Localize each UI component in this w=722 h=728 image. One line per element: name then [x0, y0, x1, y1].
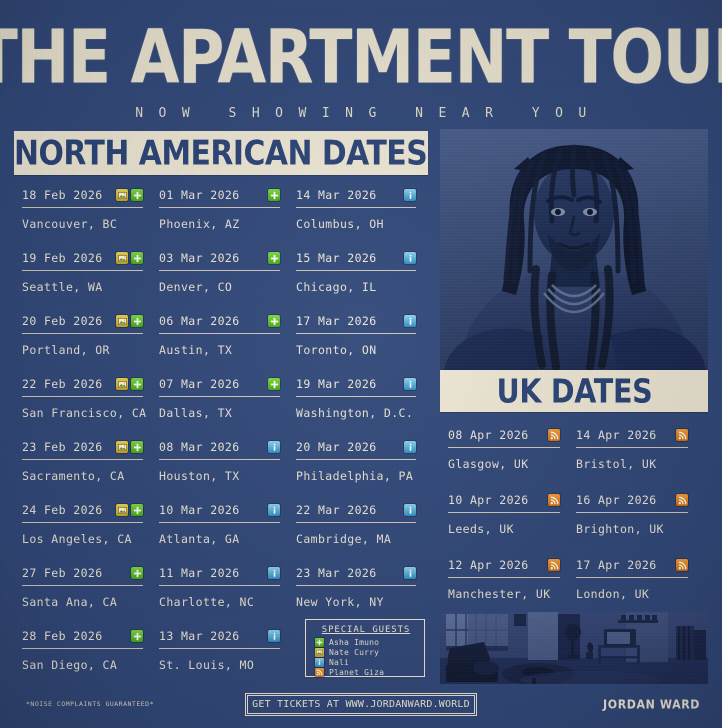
tour-date-text: 01 Mar 2026 [159, 188, 240, 202]
tour-city-text: Atlanta, GA [159, 532, 280, 546]
tour-date-icon-group [548, 429, 560, 441]
tour-date-text: 08 Apr 2026 [448, 428, 529, 442]
special-guest-name: Nate Curry [329, 648, 379, 657]
plus-badge-icon[interactable] [131, 504, 143, 516]
tour-city-text: Manchester, UK [448, 587, 560, 601]
tour-date-row: 20 Mar 2026 [296, 440, 416, 460]
tour-date-row: 01 Mar 2026 [159, 188, 280, 208]
plus-badge-icon[interactable] [131, 252, 143, 264]
special-guest-name: Nali [329, 658, 349, 667]
image-badge-icon[interactable] [116, 315, 128, 327]
tour-date-row: 12 Apr 2026 [448, 558, 560, 578]
tour-date-text: 07 Mar 2026 [159, 377, 240, 391]
tour-date-row: 03 Mar 2026 [159, 251, 280, 271]
tour-date-icon-group [116, 315, 143, 327]
tour-date-icon-group [404, 252, 416, 264]
tour-date-icon-group [676, 429, 688, 441]
tour-date-text: 14 Apr 2026 [576, 428, 657, 442]
tour-city-text: Portland, OR [22, 343, 143, 357]
tour-date-cell[interactable]: 23 Mar 2026New York, NY [296, 566, 432, 609]
tour-date-text: 22 Mar 2026 [296, 503, 377, 517]
tour-city-text: Austin, TX [159, 343, 280, 357]
noise-complaints-note: *NOISE COMPLAINTS GUARANTEED* [26, 700, 154, 708]
tour-date-row: 06 Mar 2026 [159, 314, 280, 334]
artist-name: JORDAN WARD [603, 697, 700, 712]
tour-date-row: 10 Mar 2026 [159, 503, 280, 523]
rss-badge-icon[interactable] [315, 668, 324, 677]
tour-date-row: 20 Feb 2026 [22, 314, 143, 334]
tour-city-text: Phoenix, AZ [159, 217, 280, 231]
plus-badge-icon[interactable] [131, 567, 143, 579]
tour-city-text: Toronto, ON [296, 343, 416, 357]
tour-date-icon-group [548, 494, 560, 506]
tour-date-text: 20 Mar 2026 [296, 440, 377, 454]
tour-date-cell[interactable]: 08 Mar 2026Houston, TX [159, 440, 296, 483]
tour-date-icon-group [268, 630, 280, 642]
tour-date-text: 19 Feb 2026 [22, 251, 103, 265]
tour-date-cell[interactable]: 22 Mar 2026Cambridge, MA [296, 503, 432, 546]
tour-city-text: Glasgow, UK [448, 457, 560, 471]
tour-date-icon-group [404, 567, 416, 579]
tour-date-text: 23 Mar 2026 [296, 566, 377, 580]
tour-date-text: 14 Mar 2026 [296, 188, 377, 202]
tour-date-icon-group [404, 189, 416, 201]
tour-city-text: Washington, D.C. [296, 406, 416, 420]
tour-date-row: 08 Mar 2026 [159, 440, 280, 460]
tour-date-cell[interactable]: 13 Mar 2026St. Louis, MO [159, 629, 296, 672]
info-badge-icon[interactable] [404, 504, 416, 516]
tour-date-icon-group [404, 315, 416, 327]
special-guests-title: SPECIAL GUESTS [315, 625, 417, 635]
rss-badge-icon[interactable] [676, 494, 688, 506]
special-guests-box: SPECIAL GUESTS Asha ImunoNate CurryNaliP… [305, 619, 425, 677]
tour-city-text: San Francisco, CA [22, 406, 143, 420]
north-american-dates-label: NORTH AMERICAN DATES [14, 133, 427, 173]
tour-date-row: 08 Apr 2026 [448, 428, 560, 448]
tour-date-icon-group [268, 567, 280, 579]
tour-date-text: 12 Apr 2026 [448, 558, 529, 572]
image-badge-icon[interactable] [315, 648, 324, 657]
tour-date-row: 07 Mar 2026 [159, 377, 280, 397]
info-badge-icon[interactable] [268, 567, 280, 579]
info-badge-icon[interactable] [315, 658, 324, 667]
tour-date-icon-group [404, 504, 416, 516]
tour-date-row: 17 Mar 2026 [296, 314, 416, 334]
tour-date-text: 18 Feb 2026 [22, 188, 103, 202]
portrait-illustration [440, 129, 708, 371]
tour-date-icon-group [404, 441, 416, 453]
rss-badge-icon[interactable] [548, 559, 560, 571]
tour-city-text: Columbus, OH [296, 217, 416, 231]
tour-city-text: Leeds, UK [448, 522, 560, 536]
tour-date-cell[interactable]: 14 Apr 2026Bristol, UK [576, 428, 704, 471]
get-tickets-button[interactable]: GET TICKETS AT WWW.JORDANWARD.WORLD [247, 695, 475, 714]
uk-dates-banner: UK DATES [440, 370, 708, 412]
tour-city-text: Philadelphia, PA [296, 469, 416, 483]
tour-date-cell[interactable]: 11 Mar 2026Charlotte, NC [159, 566, 296, 609]
page-title: THE APARTMENT TOUR [0, 18, 722, 96]
room-illustration [440, 612, 708, 684]
tour-city-text: St. Louis, MO [159, 658, 280, 672]
tour-city-text: Seattle, WA [22, 280, 143, 294]
tour-date-cell[interactable]: 20 Mar 2026Philadelphia, PA [296, 440, 432, 483]
special-guest-name: Asha Imuno [329, 638, 379, 647]
tour-city-text: Bristol, UK [576, 457, 688, 471]
info-badge-icon[interactable] [404, 378, 416, 390]
tour-date-text: 06 Mar 2026 [159, 314, 240, 328]
tour-date-row: 18 Feb 2026 [22, 188, 143, 208]
tour-city-text: Vancouver, BC [22, 217, 143, 231]
tour-date-row: 28 Feb 2026 [22, 629, 143, 649]
rss-badge-icon[interactable] [548, 429, 560, 441]
tour-date-text: 28 Feb 2026 [22, 629, 103, 643]
tour-date-cell[interactable]: 23 Feb 2026Sacramento, CA [22, 440, 159, 483]
tour-city-text: Denver, CO [159, 280, 280, 294]
tour-date-text: 17 Mar 2026 [296, 314, 377, 328]
tour-date-icon-group [116, 189, 143, 201]
tour-date-icon-group [404, 378, 416, 390]
tour-date-cell[interactable]: 14 Mar 2026Columbus, OH [296, 188, 432, 231]
special-guests-list: Asha ImunoNate CurryNaliPlanet Giza [315, 638, 417, 677]
tour-date-cell[interactable]: 08 Apr 2026Glasgow, UK [448, 428, 576, 471]
tour-date-row: 16 Apr 2026 [576, 493, 688, 513]
tour-date-text: 20 Feb 2026 [22, 314, 103, 328]
tour-date-icon-group [268, 315, 280, 327]
tour-date-row: 22 Mar 2026 [296, 503, 416, 523]
uk-dates-grid: 08 Apr 2026Glasgow, UK14 Apr 2026Bristol… [448, 428, 704, 623]
artist-portrait-photo [440, 129, 708, 371]
tour-date-text: 13 Mar 2026 [159, 629, 240, 643]
tour-date-text: 11 Mar 2026 [159, 566, 240, 580]
plus-badge-icon[interactable] [131, 630, 143, 642]
tour-date-row: 22 Feb 2026 [22, 377, 143, 397]
tour-date-text: 27 Feb 2026 [22, 566, 103, 580]
north-american-dates-banner: NORTH AMERICAN DATES [14, 131, 428, 175]
rss-badge-icon[interactable] [548, 494, 560, 506]
tour-date-icon-group [268, 189, 280, 201]
tour-date-text: 10 Mar 2026 [159, 503, 240, 517]
tour-date-cell[interactable]: 20 Feb 2026Portland, OR [22, 314, 159, 357]
image-badge-icon[interactable] [116, 252, 128, 264]
plus-badge-icon[interactable] [131, 378, 143, 390]
tour-date-icon-group [131, 630, 143, 642]
tour-date-row: 24 Feb 2026 [22, 503, 143, 523]
info-badge-icon[interactable] [404, 441, 416, 453]
tour-date-text: 22 Feb 2026 [22, 377, 103, 391]
rss-badge-icon[interactable] [676, 429, 688, 441]
tour-city-text: Brighton, UK [576, 522, 688, 536]
tour-city-text: London, UK [576, 587, 688, 601]
info-badge-icon[interactable] [268, 504, 280, 516]
tour-date-cell[interactable]: 15 Mar 2026Chicago, IL [296, 251, 432, 294]
tour-date-row: 14 Apr 2026 [576, 428, 688, 448]
rss-badge-icon[interactable] [676, 559, 688, 571]
tour-date-cell[interactable]: 10 Apr 2026Leeds, UK [448, 493, 576, 536]
image-badge-icon[interactable] [116, 441, 128, 453]
tour-date-cell[interactable]: 10 Mar 2026Atlanta, GA [159, 503, 296, 546]
tour-date-cell[interactable]: 06 Mar 2026Austin, TX [159, 314, 296, 357]
special-guest-name: Planet Giza [329, 668, 384, 677]
tour-date-icon-group [268, 504, 280, 516]
tour-city-text: Houston, TX [159, 469, 280, 483]
tour-city-text: Santa Ana, CA [22, 595, 143, 609]
uk-dates-label: UK DATES [496, 372, 652, 411]
plus-badge-icon[interactable] [268, 378, 280, 390]
tour-date-row: 19 Mar 2026 [296, 377, 416, 397]
north-american-dates-grid: 18 Feb 2026Vancouver, BC01 Mar 2026Phoen… [22, 188, 432, 692]
tour-date-cell[interactable]: 18 Feb 2026Vancouver, BC [22, 188, 159, 231]
apartment-room-photo [440, 612, 708, 684]
tour-city-text: Chicago, IL [296, 280, 416, 294]
tour-city-text: New York, NY [296, 595, 416, 609]
info-badge-icon[interactable] [404, 315, 416, 327]
tour-city-text: Cambridge, MA [296, 532, 416, 546]
special-guest-row: Nate Curry [315, 648, 417, 657]
plus-badge-icon[interactable] [268, 252, 280, 264]
tour-date-row: 13 Mar 2026 [159, 629, 280, 649]
tour-date-text: 19 Mar 2026 [296, 377, 377, 391]
info-badge-icon[interactable] [404, 567, 416, 579]
special-guest-row: Nali [315, 658, 417, 667]
plus-badge-icon[interactable] [268, 189, 280, 201]
tour-date-icon-group [116, 441, 143, 453]
special-guest-row: Planet Giza [315, 668, 417, 677]
tour-date-text: 08 Mar 2026 [159, 440, 240, 454]
tour-city-text: Sacramento, CA [22, 469, 143, 483]
tour-date-icon-group [116, 252, 143, 264]
tour-city-text: San Diego, CA [22, 658, 143, 672]
tour-city-text: Dallas, TX [159, 406, 280, 420]
tour-date-icon-group [548, 559, 560, 571]
tour-date-cell[interactable]: 17 Mar 2026Toronto, ON [296, 314, 432, 357]
image-badge-icon[interactable] [116, 504, 128, 516]
tour-date-icon-group [676, 494, 688, 506]
tour-date-icon-group [676, 559, 688, 571]
plus-badge-icon[interactable] [268, 315, 280, 327]
tour-subtitle: NOW SHOWING NEAR YOU [0, 106, 722, 121]
tour-date-icon-group [268, 252, 280, 264]
plus-badge-icon[interactable] [131, 315, 143, 327]
tour-date-cell[interactable]: 12 Apr 2026Manchester, UK [448, 558, 576, 601]
tour-date-row: 14 Mar 2026 [296, 188, 416, 208]
tour-date-cell[interactable]: 07 Mar 2026Dallas, TX [159, 377, 296, 420]
tour-date-row: 15 Mar 2026 [296, 251, 416, 271]
masthead: THE APARTMENT TOUR NOW SHOWING NEAR YOU [0, 18, 722, 121]
tour-date-cell[interactable]: 19 Mar 2026Washington, D.C. [296, 377, 432, 420]
tour-date-cell[interactable]: 17 Apr 2026London, UK [576, 558, 704, 601]
tour-date-text: 16 Apr 2026 [576, 493, 657, 507]
tour-date-row: 19 Feb 2026 [22, 251, 143, 271]
tour-date-cell[interactable]: 19 Feb 2026Seattle, WA [22, 251, 159, 294]
image-badge-icon[interactable] [116, 378, 128, 390]
info-badge-icon[interactable] [268, 630, 280, 642]
info-badge-icon[interactable] [268, 441, 280, 453]
get-tickets-label: GET TICKETS AT WWW.JORDANWARD.WORLD [252, 699, 470, 710]
tour-date-text: 17 Apr 2026 [576, 558, 657, 572]
tour-date-icon-group [116, 504, 143, 516]
tour-date-row: 23 Mar 2026 [296, 566, 416, 586]
image-badge-icon[interactable] [116, 189, 128, 201]
tour-date-row: 17 Apr 2026 [576, 558, 688, 578]
tour-date-icon-group [116, 378, 143, 390]
info-badge-icon[interactable] [404, 252, 416, 264]
tour-date-cell[interactable]: 28 Feb 2026San Diego, CA [22, 629, 159, 672]
tour-date-cell[interactable]: 24 Feb 2026Los Angeles, CA [22, 503, 159, 546]
tour-date-row: 10 Apr 2026 [448, 493, 560, 513]
tour-date-cell[interactable]: 01 Mar 2026Phoenix, AZ [159, 188, 296, 231]
tour-date-row: 27 Feb 2026 [22, 566, 143, 586]
tour-date-cell[interactable]: 03 Mar 2026Denver, CO [159, 251, 296, 294]
tour-city-text: Los Angeles, CA [22, 532, 143, 546]
tour-date-text: 24 Feb 2026 [22, 503, 103, 517]
tour-date-text: 23 Feb 2026 [22, 440, 103, 454]
tour-date-row: 11 Mar 2026 [159, 566, 280, 586]
plus-badge-icon[interactable] [131, 189, 143, 201]
tour-date-text: 15 Mar 2026 [296, 251, 377, 265]
tour-date-cell[interactable]: 27 Feb 2026Santa Ana, CA [22, 566, 159, 609]
info-badge-icon[interactable] [404, 189, 416, 201]
tour-date-text: 10 Apr 2026 [448, 493, 529, 507]
tour-date-row: 23 Feb 2026 [22, 440, 143, 460]
tour-date-icon-group [268, 378, 280, 390]
tour-date-cell[interactable]: 16 Apr 2026Brighton, UK [576, 493, 704, 536]
tour-date-icon-group [268, 441, 280, 453]
plus-badge-icon[interactable] [315, 638, 324, 647]
plus-badge-icon[interactable] [131, 441, 143, 453]
tour-date-cell[interactable]: 22 Feb 2026San Francisco, CA [22, 377, 159, 420]
tour-date-icon-group [131, 567, 143, 579]
tour-date-text: 03 Mar 2026 [159, 251, 240, 265]
tour-city-text: Charlotte, NC [159, 595, 280, 609]
special-guest-row: Asha Imuno [315, 638, 417, 647]
